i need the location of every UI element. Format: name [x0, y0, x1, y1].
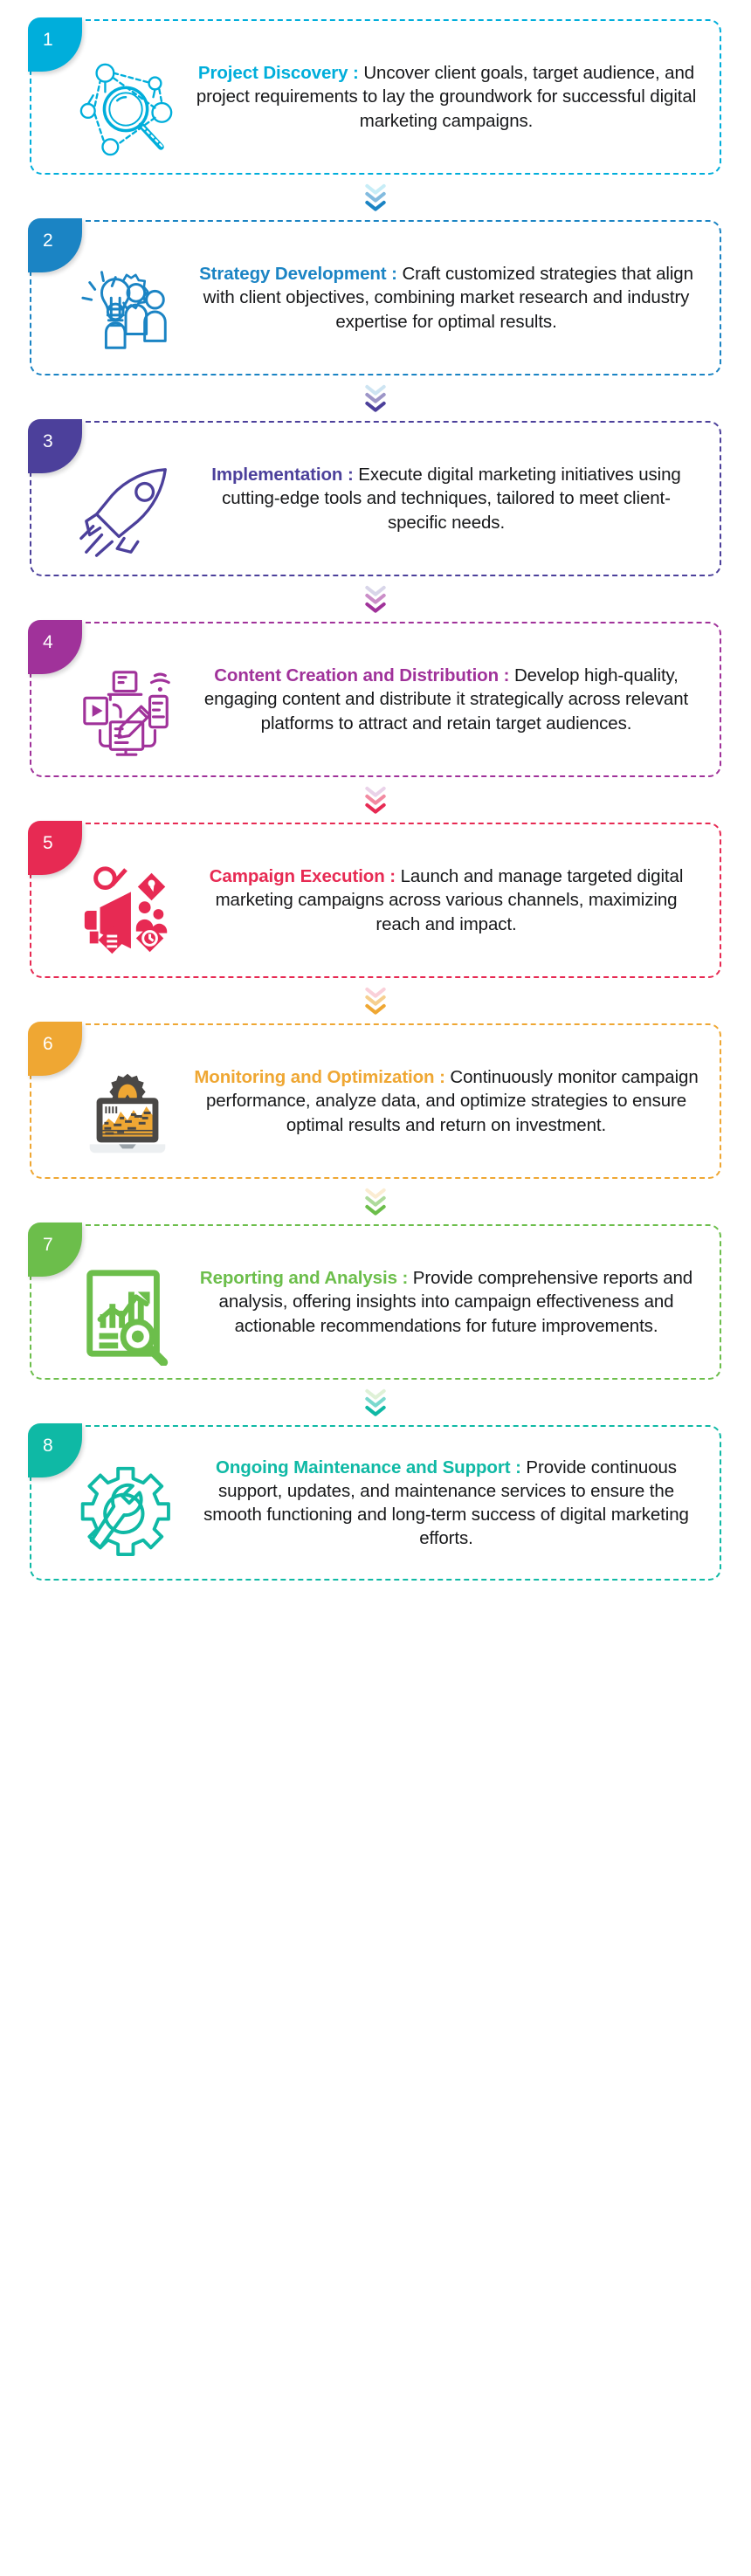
step-title: Campaign Execution	[210, 866, 385, 886]
step-title-separator: :	[499, 665, 514, 685]
step-number: 7	[43, 1236, 53, 1254]
step-number: 3	[43, 432, 53, 451]
step-title: Project Discovery	[198, 63, 348, 83]
lightbulb-team-gear-icon	[72, 258, 183, 362]
laptop-chart-gear-icon	[72, 1062, 183, 1165]
step-text: Reporting and Analysis : Provide compreh…	[183, 1263, 702, 1340]
chevron-down-icon	[364, 602, 387, 614]
content-devices-pen-icon	[72, 660, 183, 763]
step-title-separator: :	[397, 1268, 413, 1288]
megaphone-campaign-icon	[72, 861, 183, 964]
step-connector-4	[30, 777, 721, 823]
chevron-down-icon	[364, 802, 387, 815]
step-text: Content Creation and Distribution : Deve…	[183, 660, 702, 738]
step-title: Reporting and Analysis	[200, 1268, 397, 1288]
step-title-separator: :	[385, 866, 401, 886]
step-title-separator: :	[342, 465, 358, 485]
step-connector-3	[30, 576, 721, 622]
step-title-separator: :	[434, 1067, 450, 1087]
report-magnifier-icon	[72, 1263, 183, 1366]
process-flow-infographic: 1 Project Discovery : Uncover client goa…	[30, 19, 721, 1581]
step-number: 6	[43, 1035, 53, 1053]
step-connector-6	[30, 1179, 721, 1224]
step-number: 5	[43, 834, 53, 852]
chevron-down-icon	[364, 1405, 387, 1417]
step-text: Implementation : Execute digital marketi…	[183, 459, 702, 537]
step-connector-2	[30, 375, 721, 421]
step-title: Monitoring and Optimization	[194, 1067, 434, 1087]
step-card-3: 3 Implementation : Execute digital marke…	[30, 421, 721, 576]
step-connector-7	[30, 1380, 721, 1425]
step-card-2: 2 Strategy Development : Craft customize…	[30, 220, 721, 375]
step-text: Project Discovery : Uncover client goals…	[183, 58, 702, 135]
step-title: Strategy Development	[199, 264, 386, 284]
step-number: 4	[43, 633, 53, 651]
step-title: Content Creation and Distribution	[214, 665, 499, 685]
step-text: Ongoing Maintenance and Support : Provid…	[183, 1452, 702, 1553]
step-connector-5	[30, 978, 721, 1023]
rocket-icon	[72, 459, 183, 562]
step-card-5: 5	[30, 823, 721, 978]
chevron-down-icon	[364, 401, 387, 413]
step-title: Implementation	[211, 465, 342, 485]
gear-wrench-icon	[72, 1464, 183, 1567]
step-card-8: 8 Ongoing Maintenance and Support : Prov…	[30, 1425, 721, 1581]
chevron-down-icon	[364, 1003, 387, 1016]
step-text: Campaign Execution : Launch and manage t…	[183, 861, 702, 939]
step-card-1: 1 Project Discovery : Uncover client goa…	[30, 19, 721, 175]
step-number: 8	[43, 1436, 53, 1455]
step-card-4: 4 Content Cr	[30, 622, 721, 777]
chevron-down-icon	[364, 200, 387, 212]
step-number: 1	[43, 31, 53, 49]
step-connector-1	[30, 175, 721, 220]
chevron-down-icon	[364, 1204, 387, 1216]
step-card-6: 6	[30, 1023, 721, 1179]
step-title-separator: :	[387, 264, 403, 284]
step-title-separator: :	[348, 63, 363, 83]
step-text: Monitoring and Optimization : Continuous…	[183, 1062, 702, 1140]
step-title-separator: :	[510, 1457, 526, 1477]
network-magnifier-icon	[72, 58, 183, 161]
step-title: Ongoing Maintenance and Support	[216, 1457, 510, 1477]
step-card-7: 7	[30, 1224, 721, 1380]
step-text: Strategy Development : Craft customized …	[183, 258, 702, 336]
step-number: 2	[43, 231, 53, 250]
